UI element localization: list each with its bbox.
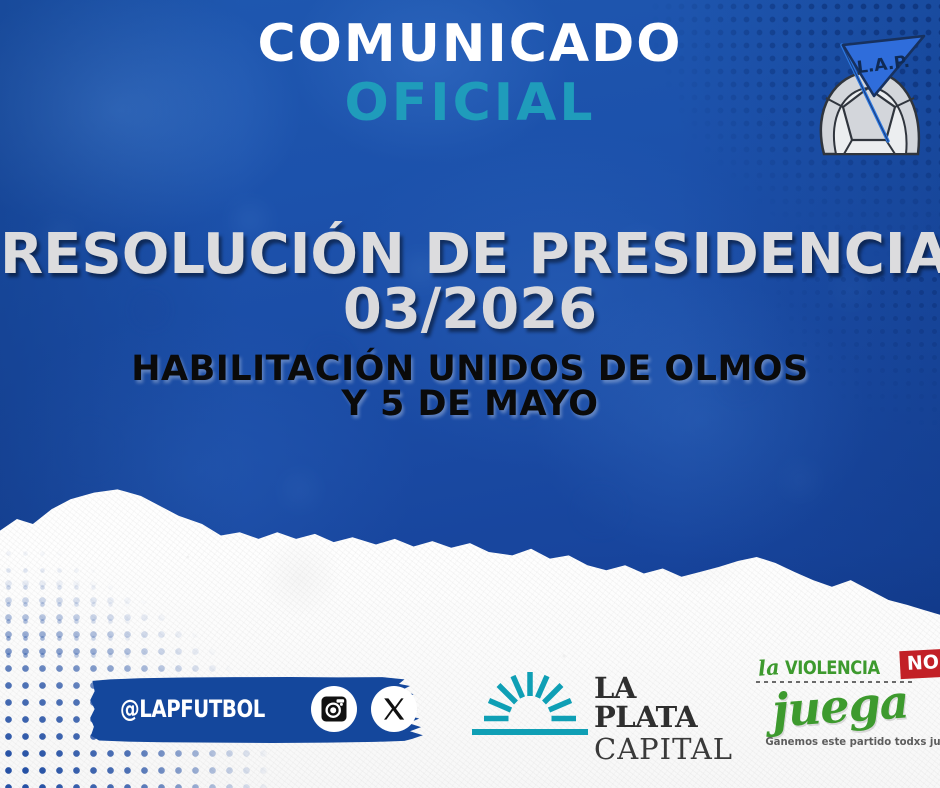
violencia-word-violencia: VIOLENCIA xyxy=(785,659,880,678)
title-line-2: 03/2026 xyxy=(0,282,940,338)
poster-canvas: COMUNICADO OFICIAL xyxy=(0,0,940,788)
social-handle[interactable]: @LAPFUTBOL xyxy=(120,695,265,723)
logo-line-capital: CAPITAL xyxy=(594,734,733,764)
subtitle: HABILITACIÓN UNIDOS DE OLMOS Y 5 DE MAYO xyxy=(0,352,940,422)
violencia-word-la: la xyxy=(757,656,780,678)
header-line-oficial: OFICIAL xyxy=(0,76,940,131)
la-plata-capital-text: LA PLATA CAPITAL xyxy=(594,674,733,764)
social-banner: @LAPFUTBOL xyxy=(88,672,456,746)
social-row: @LAPFUTBOL xyxy=(88,672,456,746)
main-title: RESOLUCIÓN DE PRESIDENCIA 03/2026 xyxy=(0,228,940,338)
header-line-comunicado: COMUNICADO xyxy=(0,18,940,70)
violencia-no-juega-logo: la VIOLENCIA NO juega Ganemos este parti… xyxy=(752,650,920,758)
violencia-tagline: Ganemos este partido todxs juntos xyxy=(765,735,910,748)
violencia-word-juega: juega xyxy=(771,678,910,733)
subtitle-line-1: HABILITACIÓN UNIDOS DE OLMOS xyxy=(0,352,940,387)
title-line-1: RESOLUCIÓN DE PRESIDENCIA xyxy=(0,228,940,282)
logo-line-la-plata: LA PLATA xyxy=(594,674,733,732)
x-twitter-icon[interactable] xyxy=(371,686,417,732)
violencia-top-row: la VIOLENCIA NO xyxy=(758,650,940,678)
header: COMUNICADO OFICIAL xyxy=(0,18,940,131)
la-plata-capital-logo: LA PLATA CAPITAL xyxy=(470,662,720,752)
sunburst-icon xyxy=(470,670,590,742)
instagram-icon[interactable] xyxy=(311,686,357,732)
lap-logo: L.A.P. xyxy=(802,8,932,163)
subtitle-line-2: Y 5 DE MAYO xyxy=(0,387,940,422)
